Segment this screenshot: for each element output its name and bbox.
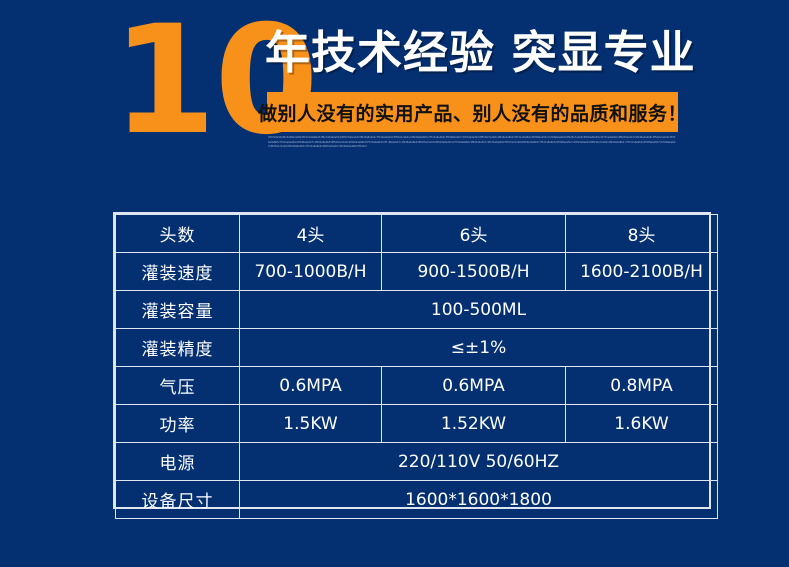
decorative-microtext: c8d7a9e3b1f0c4d28a7e65b3f19c0d4a8e2b7f6c…: [268, 136, 676, 150]
table-row: 头数4头6头8头: [116, 215, 718, 253]
banner-subtitle-text: 做别人没有的实用产品、别人没有的品质和服务！: [258, 99, 687, 126]
row-value-col2: 0.6MPA: [382, 367, 566, 405]
row-value-merged: ≤±1%: [240, 329, 718, 367]
table-row: 灌装速度700-1000B/H900-1500B/H1600-2100B/H: [116, 253, 718, 291]
banner-headline: 年技术经验 突显专业: [265, 26, 696, 80]
row-value-col3: 0.8MPA: [566, 367, 718, 405]
table-row: 灌装精度≤±1%: [116, 329, 718, 367]
row-value-col2: 1.52KW: [382, 405, 566, 443]
row-value-col1: 700-1000B/H: [240, 253, 382, 291]
table-row: 设备尺寸1600*1600*1800: [116, 481, 718, 519]
spec-table-body: 头数4头6头8头灌装速度700-1000B/H900-1500B/H1600-2…: [116, 215, 718, 519]
table-row: 气压0.6MPA0.6MPA0.8MPA: [116, 367, 718, 405]
row-value-col3: 1600-2100B/H: [566, 253, 718, 291]
row-label: 电源: [116, 443, 240, 481]
row-label: 设备尺寸: [116, 481, 240, 519]
row-value-merged: 220/110V 50/60HZ: [240, 443, 718, 481]
row-label: 头数: [116, 215, 240, 253]
row-value-merged: 100-500ML: [240, 291, 718, 329]
row-value-col3: 1.6KW: [566, 405, 718, 443]
row-value-merged: 1600*1600*1800: [240, 481, 718, 519]
row-value-col2: 6头: [382, 215, 566, 253]
row-label: 灌装精度: [116, 329, 240, 367]
row-value-col1: 0.6MPA: [240, 367, 382, 405]
table-row: 灌装容量100-500ML: [116, 291, 718, 329]
specification-table: 头数4头6头8头灌装速度700-1000B/H900-1500B/H1600-2…: [113, 212, 711, 509]
row-value-col2: 900-1500B/H: [382, 253, 566, 291]
row-label: 灌装容量: [116, 291, 240, 329]
spec-table-element: 头数4头6头8头灌装速度700-1000B/H900-1500B/H1600-2…: [115, 214, 718, 519]
row-label: 气压: [116, 367, 240, 405]
row-label: 灌装速度: [116, 253, 240, 291]
row-value-col1: 1.5KW: [240, 405, 382, 443]
row-value-col3: 8头: [566, 215, 718, 253]
table-row: 电源220/110V 50/60HZ: [116, 443, 718, 481]
row-label: 功率: [116, 405, 240, 443]
table-row: 功率1.5KW1.52KW1.6KW: [116, 405, 718, 443]
promo-banner: 10 年技术经验 突显专业 做别人没有的实用产品、别人没有的品质和服务！ c8d…: [0, 0, 789, 190]
row-value-col1: 4头: [240, 215, 382, 253]
banner-subtitle-bar: 做别人没有的实用产品、别人没有的品质和服务！: [267, 92, 678, 132]
